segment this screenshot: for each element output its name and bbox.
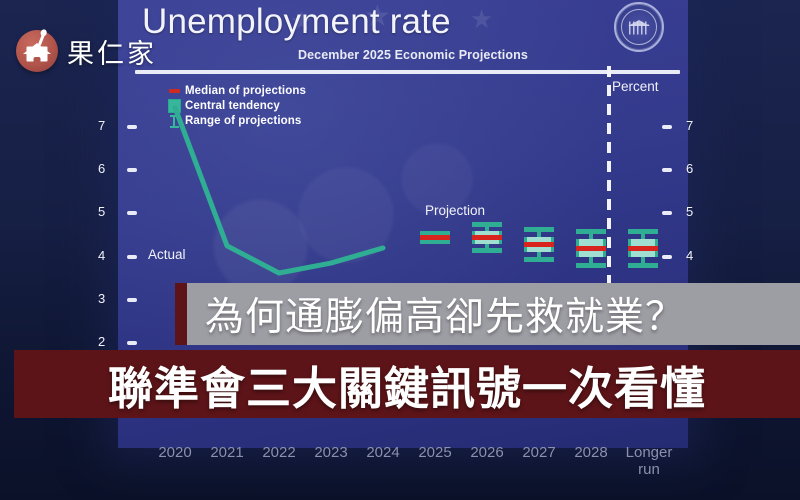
x-axis-labels: 202020212022202320242025202620272028Long… bbox=[135, 444, 695, 488]
range-cap-low bbox=[524, 257, 554, 262]
legend-label: Median of projections bbox=[185, 85, 306, 97]
x-tick-label: 2022 bbox=[262, 444, 295, 461]
y-tick-label-right: 7 bbox=[686, 118, 693, 133]
median-line bbox=[524, 242, 554, 247]
screenshot-canvas: ★ ★ ★ Unemployment rate December 2025 Ec… bbox=[0, 0, 800, 500]
x-tick-label: 2024 bbox=[366, 444, 399, 461]
legend-item-median: Median of projections bbox=[163, 84, 306, 98]
median-line bbox=[472, 235, 502, 240]
median-line bbox=[576, 246, 606, 251]
federal-reserve-seal-icon bbox=[614, 2, 664, 52]
brand-logo: 果仁家 bbox=[16, 30, 157, 72]
range-cap-low bbox=[472, 248, 502, 253]
y-tick-right bbox=[662, 168, 672, 172]
x-tick-label: 2021 bbox=[210, 444, 243, 461]
brand-name: 果仁家 bbox=[67, 32, 157, 71]
x-tick-label: 2020 bbox=[158, 444, 191, 461]
y-tick-label-right: 6 bbox=[686, 161, 693, 176]
banner-accent-edge bbox=[175, 283, 187, 345]
y-tick-label-left: 4 bbox=[98, 248, 105, 263]
legend-item-range: Range of projections bbox=[163, 114, 306, 128]
y-tick-label-left: 6 bbox=[98, 161, 105, 176]
range-cap-high bbox=[524, 227, 554, 232]
y-tick-label-right: 4 bbox=[686, 248, 693, 263]
projection-annotation: Projection bbox=[425, 203, 485, 218]
legend-label: Range of projections bbox=[185, 115, 301, 127]
y-axis-unit-label: Percent bbox=[612, 79, 659, 94]
range-cap-high bbox=[628, 229, 658, 234]
headline-text-2: 聯準會三大關鍵訊號一次看懂 bbox=[108, 352, 706, 417]
y-tick-label-left: 2 bbox=[98, 334, 105, 349]
y-tick-left bbox=[127, 298, 137, 302]
y-tick-label-left: 7 bbox=[98, 118, 105, 133]
range-ibar-icon bbox=[163, 115, 185, 128]
chart-subtitle: December 2025 Economic Projections bbox=[298, 48, 528, 62]
chart-legend: Median of projections Central tendency R… bbox=[163, 84, 306, 129]
range-cap-low bbox=[420, 239, 450, 244]
y-tick-label-left: 5 bbox=[98, 204, 105, 219]
decorative-star-icon: ★ bbox=[470, 6, 493, 32]
y-tick-label-right: 5 bbox=[686, 204, 693, 219]
headline-banner-secondary: 聯準會三大關鍵訊號一次看懂 bbox=[14, 350, 800, 418]
x-tick-label: 2023 bbox=[314, 444, 347, 461]
y-tick-left bbox=[127, 125, 137, 129]
y-tick-label-left: 3 bbox=[98, 291, 105, 306]
range-cap-low bbox=[576, 263, 606, 268]
x-tick-label: 2026 bbox=[470, 444, 503, 461]
x-tick-label: 2028 bbox=[574, 444, 607, 461]
headline-text-1: 為何通膨偏高卻先救就業？ bbox=[205, 286, 685, 342]
central-box-icon bbox=[163, 99, 185, 113]
y-tick-right bbox=[662, 255, 672, 259]
y-tick-right bbox=[662, 211, 672, 215]
y-tick-left bbox=[127, 255, 137, 259]
y-tick-left bbox=[127, 341, 137, 345]
legend-label: Central tendency bbox=[185, 100, 280, 112]
range-cap-low bbox=[628, 263, 658, 268]
y-tick-left bbox=[127, 168, 137, 172]
y-tick-left bbox=[127, 211, 137, 215]
house-circle-icon bbox=[16, 30, 58, 72]
median-line bbox=[420, 235, 450, 240]
chart-title: Unemployment rate bbox=[142, 2, 451, 42]
range-cap-high bbox=[472, 222, 502, 227]
median-dash-icon bbox=[163, 89, 185, 93]
range-cap-high bbox=[576, 229, 606, 234]
x-tick-label: 2025 bbox=[418, 444, 451, 461]
y-tick-right bbox=[662, 125, 672, 129]
median-line bbox=[628, 246, 658, 251]
x-tick-label: Longerrun bbox=[626, 444, 673, 478]
actual-annotation: Actual bbox=[148, 247, 186, 262]
legend-item-central-tendency: Central tendency bbox=[163, 99, 306, 113]
headline-banner-primary: 為何通膨偏高卻先救就業？ bbox=[175, 283, 800, 345]
header-divider bbox=[135, 70, 680, 74]
x-tick-label: 2027 bbox=[522, 444, 555, 461]
